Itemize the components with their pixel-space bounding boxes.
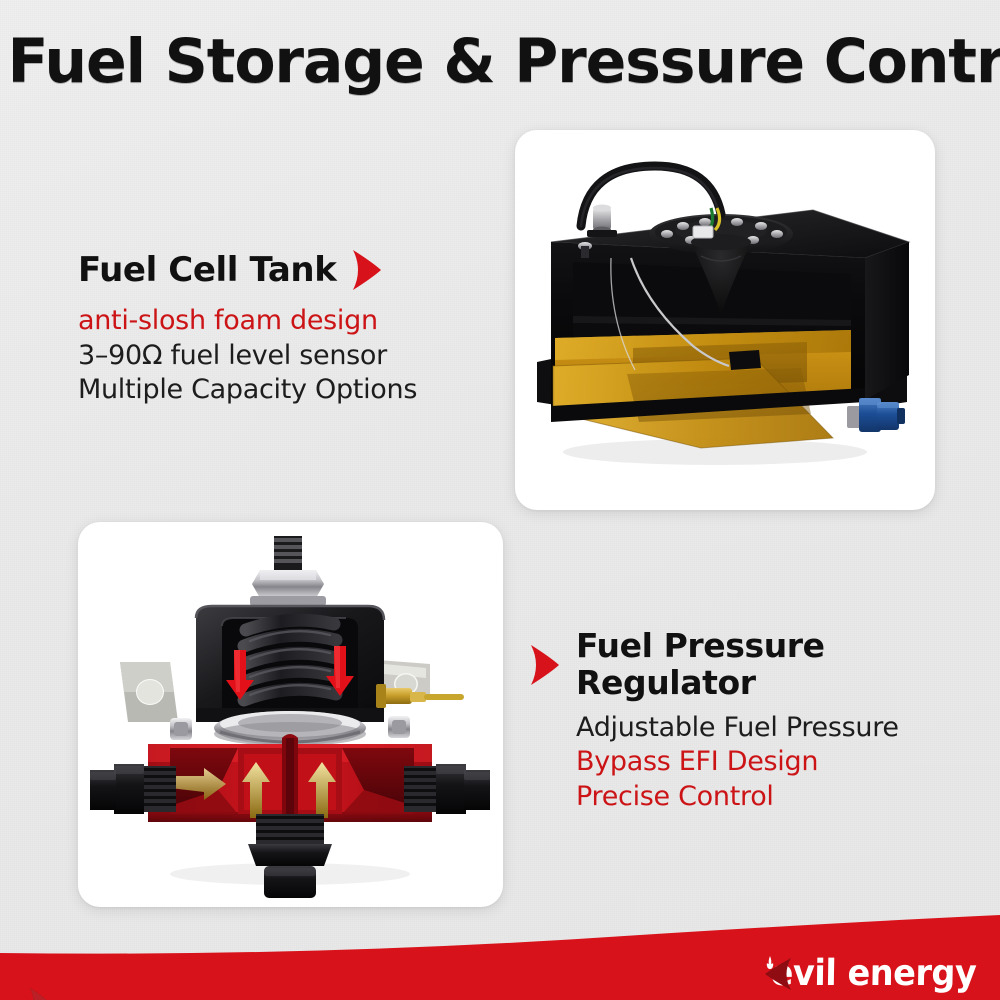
fuel-pressure-regulator-illustration: [78, 522, 503, 907]
sail-arrow-right-icon: [28, 987, 50, 1000]
infographic-page: Fuel Storage & Pressure Control: [0, 0, 1000, 1000]
sail-arrow-right-icon: [28, 987, 50, 1000]
feature-line: 3–90Ω fuel level sensor: [78, 339, 478, 374]
feature-line: Bypass EFI Design: [576, 745, 958, 780]
heading-line-2: Regulator: [576, 663, 756, 702]
fuel-pressure-regulator-heading: Fuel PressureRegulator: [576, 628, 825, 702]
fuel-cell-tank-text-block: Fuel Cell Tank anti-slosh foam design 3–…: [78, 248, 478, 408]
page-title: Fuel Storage & Pressure Control: [8, 26, 993, 97]
brand-wordmark: evil energy: [770, 956, 976, 992]
fuel-cell-tank-heading-row: Fuel Cell Tank: [78, 248, 478, 292]
fuel-pressure-regulator-feature-list: Adjustable Fuel Pressure Bypass EFI Desi…: [576, 711, 958, 815]
fuel-cell-tank-photo-card: [515, 130, 935, 510]
sail-arrow-right-icon: [28, 987, 50, 1000]
feature-line: Precise Control: [576, 780, 958, 815]
fuel-pressure-regulator-heading-row: Fuel PressureRegulator: [528, 628, 958, 702]
footer-band: evil energy: [0, 905, 1000, 1000]
flame-icon: [763, 956, 777, 974]
feature-line: anti-slosh foam design: [78, 304, 478, 339]
heading-line-1: Fuel Pressure: [576, 626, 825, 665]
fuel-cell-tank-heading: Fuel Cell Tank: [78, 251, 336, 289]
fuel-pressure-regulator-photo-card: [78, 522, 503, 907]
sail-arrow-right-icon: [28, 987, 50, 1000]
brand-logo: evil energy: [763, 956, 984, 992]
fuel-pressure-regulator-text-block: Fuel PressureRegulator Adjustable Fuel P…: [528, 628, 958, 815]
red-sail-arrow-right-icon: [528, 643, 562, 687]
fuel-cell-tank-feature-list: anti-slosh foam design 3–90Ω fuel level …: [78, 304, 478, 408]
brand-sail-arrow-left-icon: [763, 956, 793, 992]
feature-line: Multiple Capacity Options: [78, 373, 478, 408]
footer-curve-shape: [0, 905, 1000, 1000]
feature-line: Adjustable Fuel Pressure: [576, 711, 958, 746]
red-sail-arrow-right-icon: [350, 248, 384, 292]
fuel-cell-tank-illustration: [515, 130, 935, 510]
